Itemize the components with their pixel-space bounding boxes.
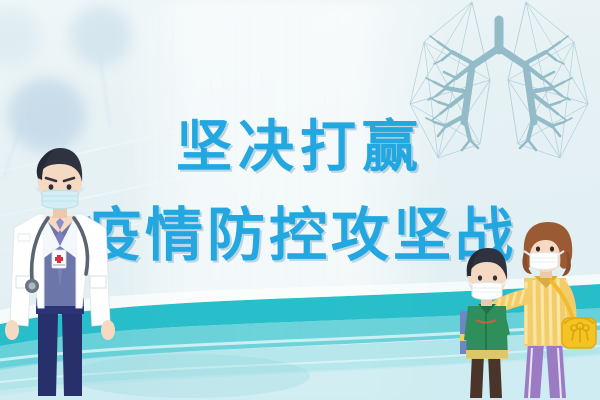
poster-canvas: 坚决打赢 疫情防控攻坚战 [0,0,600,400]
doctor-figure [0,138,126,400]
family-figure-group [454,222,600,400]
boy-figure [460,248,510,398]
virus-blob-icon [0,8,40,66]
